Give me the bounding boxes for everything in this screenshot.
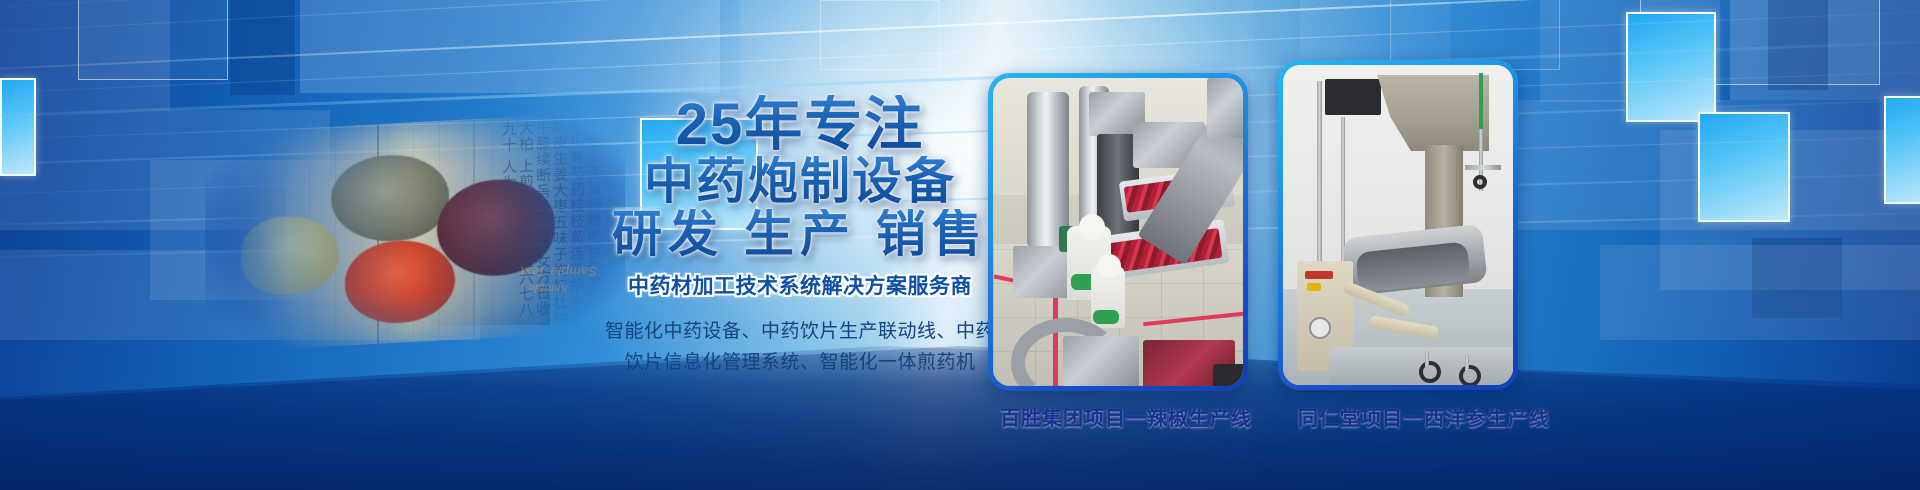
watermark-line-2: Sample: [528, 282, 568, 294]
headline-description: 智能化中药设备、中药饮片生产联动线、中药饮片信息化管理系统、智能化一体煎药机: [600, 316, 1000, 378]
headline-line-3: 研发 生产 销售: [600, 209, 1000, 260]
photo-chili-production-line: [993, 78, 1243, 386]
headline-line-1-wrap: 25年专注 25年专注: [600, 95, 1000, 154]
headline-line-2: 中药炮制设备: [600, 156, 1000, 207]
headline-line-3-wrap: 研发 生产 销售 研发 生产 销售: [600, 209, 1000, 260]
watermark-line-1: Sample Text: [520, 264, 597, 279]
promotional-banner: 齐下甲用煎百沙补阴丸止百沙人参黄芪当归熟地甘草茯苓白术川芎芍药桂枝黄连柴胡半夏陈…: [0, 0, 1920, 490]
headline-line-1: 25年专注: [600, 95, 1000, 154]
photo-ginseng-production-line: [1283, 65, 1513, 385]
headline-line-2-wrap: 中药炮制设备 中药炮制设备: [600, 156, 1000, 207]
herb-image-blue-tint: [205, 111, 625, 353]
headline-subtitle: 中药材加工技术系统解决方案服务商: [600, 270, 1000, 300]
herb-image: 齐下甲用煎百沙补阴丸止百沙人参黄芪当归熟地甘草茯苓白术川芎芍药桂枝黄连柴胡半夏陈…: [205, 111, 625, 353]
headline-block: 25年专注 25年专注 中药炮制设备 中药炮制设备 研发 生产 销售 研发 生产…: [600, 95, 1000, 378]
photo-card-ginseng-production-line[interactable]: [1278, 60, 1518, 390]
photo-card-chili-production-line[interactable]: [988, 73, 1248, 391]
caption-ginseng-production-line: 同仁堂项目一西洋参生产线: [1298, 402, 1550, 431]
caption-chili-production-line: 百胜集团项目一辣椒生产线: [1000, 402, 1252, 431]
